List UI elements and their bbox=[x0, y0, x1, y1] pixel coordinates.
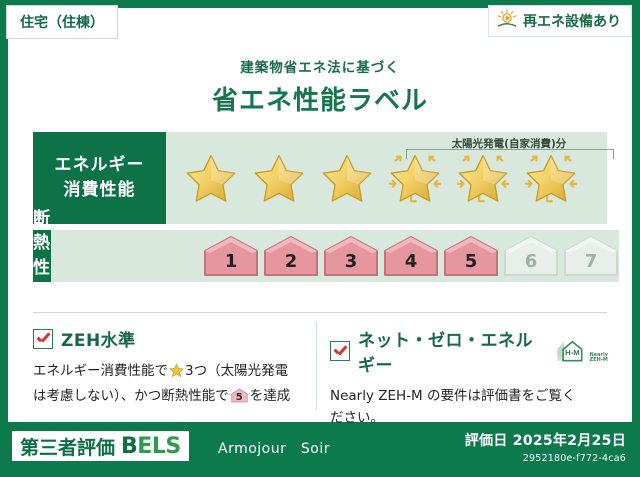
insulation-level-number: 5 bbox=[465, 251, 478, 277]
insulation-level-number: 2 bbox=[285, 251, 298, 277]
insulation-level-scale: 1 2 3 4 5 6 7 bbox=[51, 235, 619, 277]
insulation-level-number: 4 bbox=[405, 251, 418, 277]
zeh-m-logo-sub2: ZEH-M bbox=[590, 357, 608, 363]
zeh-body-part3: は考慮しない）、かつ断熱性能で bbox=[33, 388, 229, 404]
energy-performance-value: 太陽光発電(自家消費)分 bbox=[166, 132, 607, 224]
insulation-level-7: 7 bbox=[563, 235, 619, 277]
star-3 bbox=[316, 147, 378, 209]
zeh-body-part4: を達成 bbox=[250, 388, 291, 404]
bels-en-rest: ELS bbox=[137, 434, 180, 459]
building-type-tab: 住宅（住棟） bbox=[6, 5, 118, 39]
section-divider-horizontal bbox=[33, 312, 607, 313]
insulation-level-2: 2 bbox=[263, 235, 319, 277]
zeh-section-body: エネルギー消費性能で 3つ（太陽光発電は考慮しない）、かつ断熱性能で 5 を達成 bbox=[33, 360, 308, 408]
energy-performance-key: エネルギー 消費性能 bbox=[33, 132, 166, 224]
insulation-level-5: 5 bbox=[443, 235, 499, 277]
netzero-title-label: ネット・ゼロ・エネルギー bbox=[358, 326, 545, 376]
insulation-level-1: 1 bbox=[203, 235, 259, 277]
star-4 bbox=[384, 147, 446, 209]
bels-en-b: B bbox=[121, 434, 137, 459]
section-divider-vertical bbox=[316, 322, 317, 410]
svg-text:H-M: H-M bbox=[565, 348, 580, 357]
evaluation-date: 評価日 2025年2月25日 bbox=[465, 430, 626, 450]
insulation-level-3: 3 bbox=[323, 235, 379, 277]
zeh-m-logo-icon: H-M Nearly ZEH-M bbox=[555, 338, 608, 364]
label-footer: 第三者評価 BELS Armojour Soir 評価日 2025年2月25日 … bbox=[0, 422, 640, 477]
insulation-performance-row: 断熱性能 1 2 3 4 5 bbox=[33, 230, 607, 282]
sun-icon bbox=[496, 9, 518, 33]
zeh-body-part1: エネルギー消費性能で bbox=[33, 363, 168, 379]
bels-jp-label: 第三者評価 bbox=[20, 433, 115, 460]
header-subtitle: 建築物省エネ法に基づく bbox=[0, 56, 640, 76]
inline-star-icon bbox=[169, 363, 184, 385]
check-icon bbox=[33, 329, 53, 349]
energy-label-card: 住宅（住棟） 再エネ設備あり 建築物省エネ法に基づく 省エネ性能ラベル bbox=[0, 0, 640, 477]
zeh-body-part2: 3つ（太陽光発電 bbox=[185, 363, 288, 379]
building-type-label: 住宅（住棟） bbox=[20, 12, 104, 32]
insulation-level-number: 6 bbox=[525, 251, 538, 277]
insulation-performance-value: 1 2 3 4 5 6 7 bbox=[51, 230, 619, 282]
insulation-level-number: 3 bbox=[345, 251, 358, 277]
bels-en-label: BELS bbox=[121, 434, 181, 459]
insulation-level-4: 4 bbox=[383, 235, 439, 277]
star-5 bbox=[452, 147, 514, 209]
energy-key-line1: エネルギー bbox=[55, 153, 145, 178]
zeh-section: ZEH水準 エネルギー消費性能で 3つ（太陽光発電は考慮しない）、かつ断熱性能で… bbox=[33, 326, 308, 408]
bels-badge: 第三者評価 BELS bbox=[12, 431, 189, 461]
insulation-performance-key: 断熱性能 bbox=[33, 230, 51, 282]
insulation-level-number: 7 bbox=[585, 251, 598, 277]
renewable-badge-label: 再エネ設備あり bbox=[523, 11, 621, 31]
insulation-level-6: 6 bbox=[503, 235, 559, 277]
netzero-section: ネット・ゼロ・エネルギー H-M Nearly ZEH-M Nearly ZEH… bbox=[330, 326, 608, 430]
zeh-title-label: ZEH水準 bbox=[61, 326, 136, 351]
check-icon bbox=[330, 341, 350, 361]
evaluation-info: 評価日 2025年2月25日 2952180e-f772-4ca6 bbox=[465, 430, 626, 464]
insulation-key-label: 断熱性能 bbox=[33, 207, 51, 306]
star-6 bbox=[520, 147, 582, 209]
performance-panel: エネルギー 消費性能 太陽光発電(自家消費)分 bbox=[33, 132, 607, 288]
star-2 bbox=[248, 147, 310, 209]
header-title: 省エネ性能ラベル bbox=[0, 80, 640, 117]
zeh-section-title: ZEH水準 bbox=[33, 326, 308, 351]
netzero-section-title: ネット・ゼロ・エネルギー H-M Nearly ZEH-M bbox=[330, 326, 608, 376]
zeh-m-logo-sub: Nearly ZEH-M bbox=[590, 353, 608, 365]
energy-key-line2: 消費性能 bbox=[64, 178, 136, 203]
energy-performance-row: エネルギー 消費性能 太陽光発電(自家消費)分 bbox=[33, 132, 607, 224]
evaluation-id: 2952180e-f772-4ca6 bbox=[465, 453, 626, 464]
insulation-level-badge-num: 5 bbox=[231, 390, 248, 407]
insulation-level-badge: 5 bbox=[231, 388, 248, 403]
label-header: 建築物省エネ法に基づく 省エネ性能ラベル bbox=[0, 56, 640, 117]
insulation-level-number: 1 bbox=[225, 251, 238, 277]
star-rating bbox=[166, 147, 582, 209]
star-1 bbox=[180, 147, 242, 209]
renewable-energy-badge: 再エネ設備あり bbox=[488, 5, 632, 37]
building-name: Armojour Soir bbox=[218, 438, 330, 458]
